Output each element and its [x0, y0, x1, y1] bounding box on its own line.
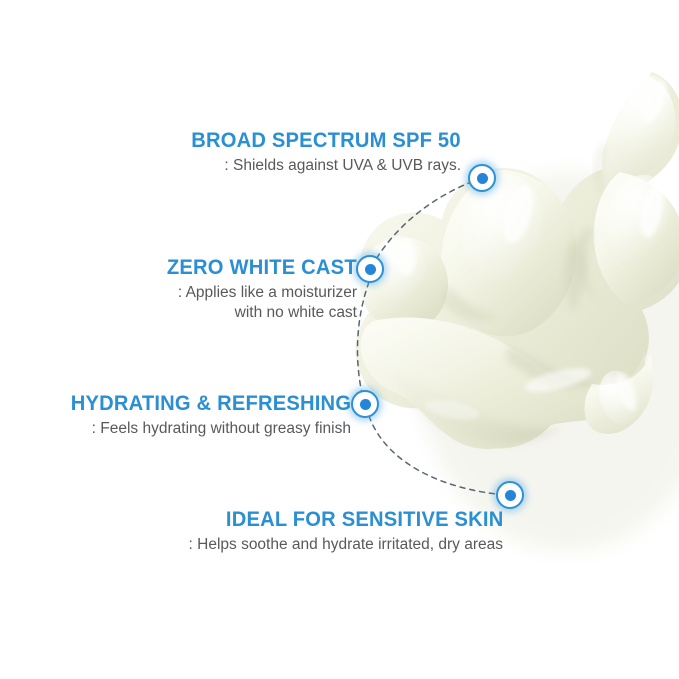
feature-marker-hydrating-refreshing[interactable]	[351, 390, 379, 418]
feature-marker-zero-white-cast[interactable]	[356, 255, 384, 283]
feature-title-hydrating-refreshing: HYDRATING & REFRESHING	[71, 391, 352, 416]
feature-marker-ideal-sensitive-skin[interactable]	[496, 481, 524, 509]
dashed-connector-curve	[0, 0, 679, 679]
feature-desc-line: with no white cast	[159, 303, 357, 323]
feature-desc-line: : Helps soothe and hydrate irritated, dr…	[189, 535, 503, 555]
feature-title-zero-white-cast: ZERO WHITE CAST	[167, 255, 357, 280]
feature-desc-line: : Shields against UVA & UVB rays.	[180, 156, 461, 176]
feature-desc-hydrating-refreshing: : Feels hydrating without greasy finish	[59, 419, 351, 439]
feature-block-zero-white-cast: ZERO WHITE CAST : Applies like a moistur…	[159, 255, 357, 323]
feature-block-ideal-sensitive-skin: IDEAL FOR SENSITIVE SKIN : Helps soothe …	[189, 507, 503, 555]
feature-block-broad-spectrum: BROAD SPECTRUM SPF 50 : Shields against …	[180, 128, 461, 176]
feature-title-ideal-sensitive-skin: IDEAL FOR SENSITIVE SKIN	[201, 507, 503, 532]
infographic-canvas: BROAD SPECTRUM SPF 50 : Shields against …	[0, 0, 679, 679]
feature-desc-line: : Feels hydrating without greasy finish	[59, 419, 351, 439]
feature-block-hydrating-refreshing: HYDRATING & REFRESHING : Feels hydrating…	[59, 391, 351, 439]
feature-desc-broad-spectrum: : Shields against UVA & UVB rays.	[180, 156, 461, 176]
feature-title-broad-spectrum: BROAD SPECTRUM SPF 50	[191, 128, 461, 153]
feature-desc-zero-white-cast: : Applies like a moisturizer with no whi…	[159, 283, 357, 323]
feature-desc-ideal-sensitive-skin: : Helps soothe and hydrate irritated, dr…	[189, 535, 503, 555]
feature-desc-line: : Applies like a moisturizer	[159, 283, 357, 303]
feature-marker-broad-spectrum[interactable]	[468, 164, 496, 192]
